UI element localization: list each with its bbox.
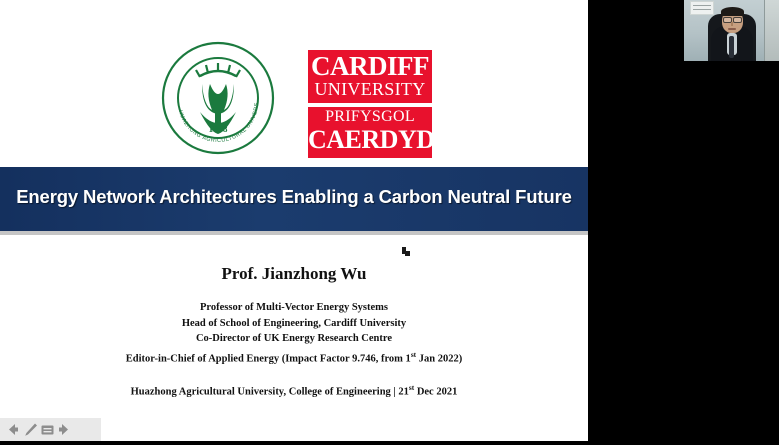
webcam-person-nose [731, 22, 733, 26]
webcam-person-glasses-right [733, 17, 742, 23]
cardiff-line-caerdydd: CAERDYDD [308, 125, 432, 154]
slide-title-banner: Energy Network Architectures Enabling a … [0, 167, 588, 231]
webcam-wall-paper [690, 1, 714, 15]
webcam-door [764, 0, 779, 61]
cardiff-university-logo: CARDIFF UNIVERSITY PRIFYSGOL CAERDYDD [308, 50, 432, 158]
previous-slide-arrow-icon[interactable] [4, 421, 21, 438]
role-line: Co-Director of UK Energy Research Centre [0, 331, 588, 347]
slideshow-menu-icon[interactable] [39, 421, 56, 438]
slide-title: Energy Network Architectures Enabling a … [0, 186, 588, 208]
mouse-pointer [402, 247, 411, 258]
huazhong-agricultural-university-logo: 1898 HUAZHONG AGRICULTURAL UNIVERSITY [160, 40, 276, 156]
cardiff-welsh-block: PRIFYSGOL CAERDYDD [308, 107, 432, 158]
role-line: Professor of Multi-Vector Energy Systems [0, 300, 588, 316]
cardiff-line-university: UNIVERSITY [308, 80, 432, 99]
svg-text:1898: 1898 [209, 125, 228, 135]
cardiff-english-block: CARDIFF UNIVERSITY [308, 50, 432, 103]
cardiff-line-cardiff: CARDIFF [308, 52, 432, 81]
webcam-person-mouth [728, 28, 736, 30]
role-line: Head of School of Engineering, Cardiff U… [0, 316, 588, 332]
speaker-name: Prof. Jianzhong Wu [0, 264, 588, 284]
screen-capture: 1898 HUAZHONG AGRICULTURAL UNIVERSITY CA… [0, 0, 779, 445]
webcam-person-hair [721, 7, 744, 16]
speaker-roles: Professor of Multi-Vector Energy Systems… [0, 300, 588, 367]
pen-tool-icon[interactable] [22, 421, 39, 438]
title-banner-shadow [0, 231, 588, 235]
slideshow-toolbar[interactable] [0, 418, 101, 441]
webcam-person-tie [729, 36, 734, 58]
presenter-webcam-video[interactable] [684, 0, 779, 61]
logo-row: 1898 HUAZHONG AGRICULTURAL UNIVERSITY CA… [0, 18, 588, 160]
role-line: Editor-in-Chief of Applied Energy (Impac… [0, 347, 588, 367]
cardiff-line-prifysgol: PRIFYSGOL [308, 108, 432, 126]
venue-and-date: Huazhong Agricultural University, Colleg… [0, 383, 588, 398]
next-slide-arrow-icon[interactable] [56, 421, 73, 438]
presentation-slide: 1898 HUAZHONG AGRICULTURAL UNIVERSITY CA… [0, 0, 588, 441]
